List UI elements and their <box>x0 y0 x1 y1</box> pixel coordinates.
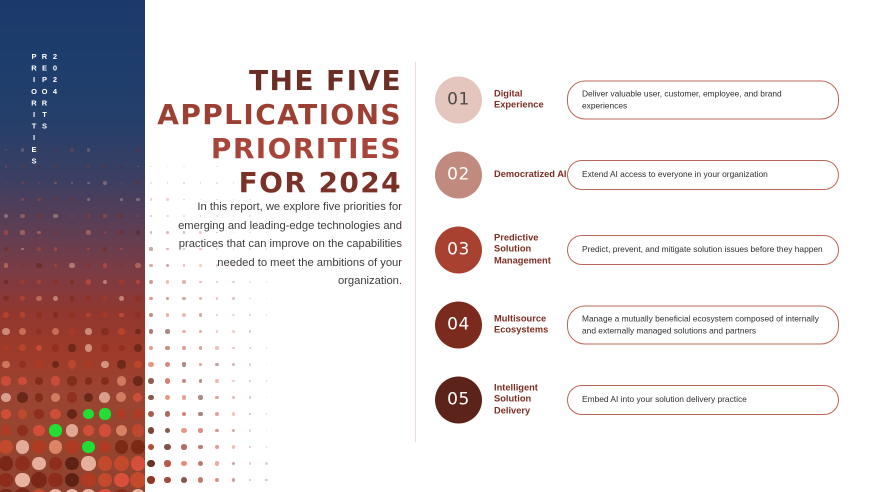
decorative-dot-grid-left <box>0 0 145 492</box>
priority-number-circle: 01 <box>435 76 482 123</box>
title-line-4: FOR 2024 <box>150 166 402 200</box>
priority-label: Intelligent Solution Delivery <box>494 382 569 417</box>
sidebar-label-reports: REPORTS <box>41 52 49 168</box>
sidebar-label-priorities: PRIORITIES <box>30 52 38 168</box>
priority-row[interactable]: 04Multisource EcosystemsManage a mutuall… <box>435 287 855 362</box>
title-line-1: THE FIVE <box>150 64 402 98</box>
priority-number-circle: 02 <box>435 151 482 198</box>
priority-description-pill: Deliver valuable user, customer, employe… <box>567 80 839 119</box>
priority-number-circle: 05 <box>435 376 482 423</box>
priority-label: Multisource Ecosystems <box>494 313 569 336</box>
title-line-2: APPLICATIONS <box>150 98 402 132</box>
priority-description-pill: Manage a mutually beneficial ecosystem c… <box>567 305 839 344</box>
priority-description-pill: Predict, prevent, and mitigate solution … <box>567 235 839 265</box>
priority-label: Democratized AI <box>494 169 569 181</box>
sidebar-vertical-label: PRIORITIES REPORTS 2024 <box>30 52 59 168</box>
sidebar-label-year: 2024 <box>51 52 59 168</box>
priority-row[interactable]: 02Democratized AIExtend AI access to eve… <box>435 137 855 212</box>
page-title: THE FIVE APPLICATIONS PRIORITIES FOR 202… <box>150 64 402 200</box>
priority-number-circle: 04 <box>435 301 482 348</box>
priority-description-pill: Embed AI into your solution delivery pra… <box>567 385 839 415</box>
priority-description-pill: Extend AI access to everyone in your org… <box>567 160 839 190</box>
vertical-divider <box>415 62 416 442</box>
infographic-page: PRIORITIES REPORTS 2024 THE FIVE APPLICA… <box>0 0 875 492</box>
priority-row[interactable]: 05Intelligent Solution DeliveryEmbed AI … <box>435 362 855 437</box>
priority-row[interactable]: 03Predictive Solution ManagementPredict,… <box>435 212 855 287</box>
priority-label: Predictive Solution Management <box>494 232 569 267</box>
title-line-3: PRIORITIES <box>150 132 402 166</box>
priority-row[interactable]: 01Digital ExperienceDeliver valuable use… <box>435 62 855 137</box>
priority-number-circle: 03 <box>435 226 482 273</box>
left-gradient-panel <box>0 0 145 492</box>
intro-paragraph: In this report, we explore five prioriti… <box>165 198 402 291</box>
priority-label: Digital Experience <box>494 88 569 111</box>
priorities-list: 01Digital ExperienceDeliver valuable use… <box>435 62 855 437</box>
